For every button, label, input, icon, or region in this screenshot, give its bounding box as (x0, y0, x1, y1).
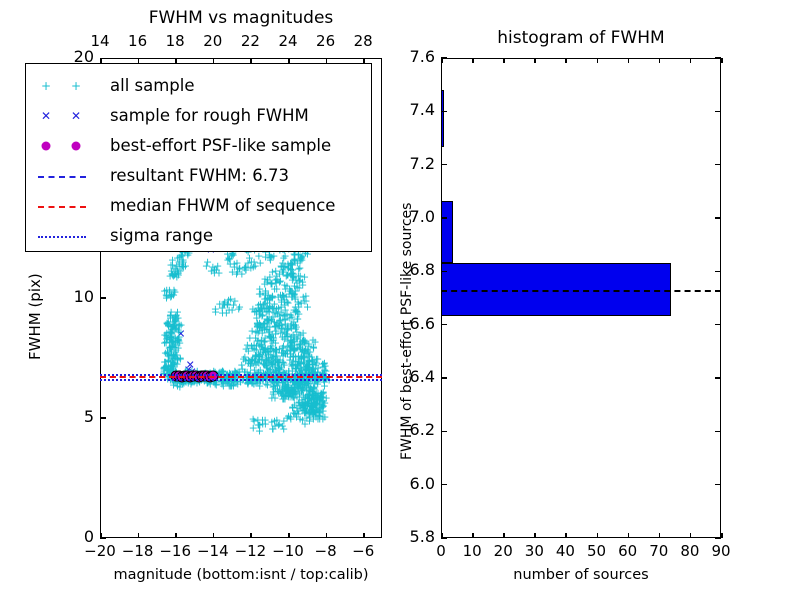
legend-entry[interactable]: ++all sample (26, 70, 371, 101)
axis-tick (100, 537, 106, 539)
legend-marker (26, 160, 104, 191)
scatter-point-all-sample: + (225, 253, 234, 264)
axis-tick (628, 533, 630, 538)
legend-entry[interactable]: sigma range (26, 220, 371, 251)
scatter-point-all-sample: + (249, 413, 258, 424)
scatter-point-all-sample: + (273, 355, 282, 366)
axis-tick (690, 533, 692, 538)
axis-tick-label: 10 (56, 287, 94, 306)
axis-tick-label: 6.6 (393, 314, 435, 333)
scatter-point-all-sample: + (308, 334, 317, 345)
axis-tick-label: 7.0 (393, 207, 435, 226)
axis-tick (715, 537, 721, 539)
axis-tick-label: 5 (56, 407, 94, 426)
left-plot-xlabel: magnitude (bottom:isnt / top:calib) (100, 567, 382, 583)
legend-marker (26, 190, 104, 221)
axis-tick (363, 533, 365, 538)
axis-tick (100, 417, 106, 419)
left-plot-title: FWHM vs magnitudes (100, 8, 382, 28)
axis-tick (597, 533, 599, 538)
scatter-point-all-sample: + (173, 266, 182, 277)
scatter-point-all-sample: + (294, 329, 303, 340)
axis-tick (441, 57, 447, 59)
axis-tick-label: 6.0 (393, 474, 435, 493)
scatter-point-all-sample: + (213, 261, 222, 272)
legend-marker: ✕✕ (26, 100, 104, 131)
axis-tick (472, 533, 474, 538)
axis-tick (441, 271, 447, 273)
axis-tick (721, 533, 723, 538)
legend-marker (26, 220, 104, 251)
plus-marker-icon: + (41, 80, 51, 92)
axis-tick (715, 377, 721, 379)
legend-label: all sample (110, 70, 195, 101)
axis-tick (441, 537, 447, 539)
legend-entry[interactable]: resultant FWHM: 6.73 (26, 160, 371, 191)
axis-tick (565, 533, 567, 538)
axis-tick (472, 58, 474, 63)
plus-marker-icon: + (71, 80, 81, 92)
scatter-point-all-sample: + (240, 352, 249, 363)
axis-tick (534, 533, 536, 538)
axis-tick-label: 7.4 (393, 100, 435, 119)
scatter-point-all-sample: + (162, 290, 171, 301)
axis-tick (175, 533, 177, 538)
legend-marker (26, 130, 104, 161)
legend-entry[interactable]: median FHWM of sequence (26, 190, 371, 221)
axis-tick-label: 6.2 (393, 420, 435, 439)
scatter-point-all-sample: + (164, 319, 173, 330)
axis-tick (288, 533, 290, 538)
reference-line-dashdot (100, 379, 382, 381)
scatter-point-all-sample: + (315, 414, 324, 425)
legend-label: resultant FWHM: 6.73 (110, 160, 289, 191)
histogram-median-line (441, 290, 721, 292)
scatter-point-all-sample: + (255, 380, 264, 391)
scatter-point-all-sample: + (171, 333, 180, 344)
scatter-point-all-sample: + (272, 415, 281, 426)
reference-line-dashdot (100, 374, 382, 376)
axis-tick (100, 297, 106, 299)
axis-tick-label: 7.2 (393, 154, 435, 173)
scatter-point-all-sample: + (243, 258, 252, 269)
histogram-bar (441, 201, 453, 262)
axis-tick (441, 377, 447, 379)
right-plot-xlabel: number of sources (441, 567, 721, 583)
scatter-point-all-sample: + (234, 304, 243, 315)
scatter-point-all-sample: + (279, 291, 288, 302)
scatter-point-all-sample: + (271, 274, 280, 285)
figure-canvas: FWHM vs magnitudes +++++++++++++++++++++… (0, 0, 800, 600)
axis-tick (441, 431, 447, 433)
axis-tick (690, 58, 692, 63)
legend-entry[interactable]: ✕✕sample for rough FWHM (26, 100, 371, 131)
cross-marker-icon: ✕ (71, 110, 81, 122)
legend-label: sample for rough FWHM (110, 100, 309, 131)
axis-tick (715, 217, 721, 219)
scatter-point-all-sample: + (271, 321, 280, 332)
axis-tick-label: 26 (306, 32, 346, 50)
axis-tick (565, 58, 567, 63)
axis-tick (715, 164, 721, 166)
axis-tick-label: 24 (268, 32, 308, 50)
axis-tick (441, 217, 447, 219)
axis-tick (715, 271, 721, 273)
dashed-line-icon (38, 206, 86, 208)
axis-tick (715, 57, 721, 59)
axis-tick-label: 6.4 (393, 367, 435, 386)
axis-tick (503, 533, 505, 538)
legend-marker: ++ (26, 70, 104, 101)
scatter-point-all-sample: + (233, 266, 242, 277)
axis-tick (441, 164, 447, 166)
axis-tick (441, 484, 447, 486)
axis-tick-label: 0 (56, 527, 94, 546)
scatter-point-all-sample: + (266, 254, 275, 265)
legend-entry[interactable]: best-effort PSF-like sample (26, 130, 371, 161)
left-plot-ylabel: FWHM (pix) (26, 273, 44, 360)
scatter-point-all-sample: + (267, 344, 276, 355)
axis-tick (534, 58, 536, 63)
scatter-point-all-sample: + (303, 363, 312, 374)
circle-marker-icon (42, 141, 51, 150)
right-plot-title: histogram of FWHM (441, 28, 721, 48)
dashed-line-icon (38, 176, 86, 178)
axis-tick-label: 20 (193, 32, 233, 50)
axis-tick (628, 58, 630, 63)
axis-tick (715, 111, 721, 113)
scatter-point-all-sample: + (219, 299, 228, 310)
axis-tick (503, 58, 505, 63)
scatter-point-all-sample: + (255, 308, 264, 319)
axis-tick-label: 7.6 (393, 47, 435, 66)
scatter-point-all-sample: + (260, 273, 269, 284)
cross-marker-icon: ✕ (41, 110, 51, 122)
scatter-point-all-sample: + (288, 270, 297, 281)
right-plot-axes (441, 58, 721, 538)
scatter-point-all-sample: + (319, 395, 328, 406)
axis-tick (138, 533, 140, 538)
axis-tick-label: 16 (118, 32, 158, 50)
axis-tick-label: 90 (701, 542, 741, 560)
axis-tick (659, 58, 661, 63)
axis-tick-label: 6.8 (393, 260, 435, 279)
axis-tick (326, 533, 328, 538)
scatter-point-all-sample: + (287, 311, 296, 322)
scatter-point-all-sample: + (267, 392, 276, 403)
axis-tick (250, 533, 252, 538)
axis-tick (213, 533, 215, 538)
axis-tick (597, 58, 599, 63)
dashdot-line-icon (38, 236, 86, 238)
axis-tick (715, 484, 721, 486)
scatter-point-all-sample: + (303, 390, 312, 401)
axis-tick-label: 5.8 (393, 527, 435, 546)
legend-label: best-effort PSF-like sample (110, 130, 331, 161)
scatter-point-all-sample: + (253, 322, 262, 333)
scatter-point-all-sample: + (285, 345, 294, 356)
axis-tick (659, 533, 661, 538)
axis-tick (715, 324, 721, 326)
axis-tick (441, 324, 447, 326)
axis-tick-label: 18 (155, 32, 195, 50)
histogram-bar (441, 90, 444, 147)
circle-marker-icon (72, 141, 81, 150)
legend-box: ++all sample✕✕sample for rough FWHMbest-… (25, 63, 372, 252)
axis-tick (441, 111, 447, 113)
legend-label: sigma range (110, 220, 213, 251)
legend-label: median FHWM of sequence (110, 190, 335, 221)
axis-tick (721, 58, 723, 63)
scatter-point-all-sample: + (254, 358, 263, 369)
scatter-point-all-sample: + (261, 293, 270, 304)
axis-tick-label: 22 (230, 32, 270, 50)
axis-tick-label: −6 (341, 542, 385, 560)
axis-tick-label: 28 (343, 32, 383, 50)
axis-tick (715, 431, 721, 433)
scatter-point-all-sample: + (295, 401, 304, 412)
